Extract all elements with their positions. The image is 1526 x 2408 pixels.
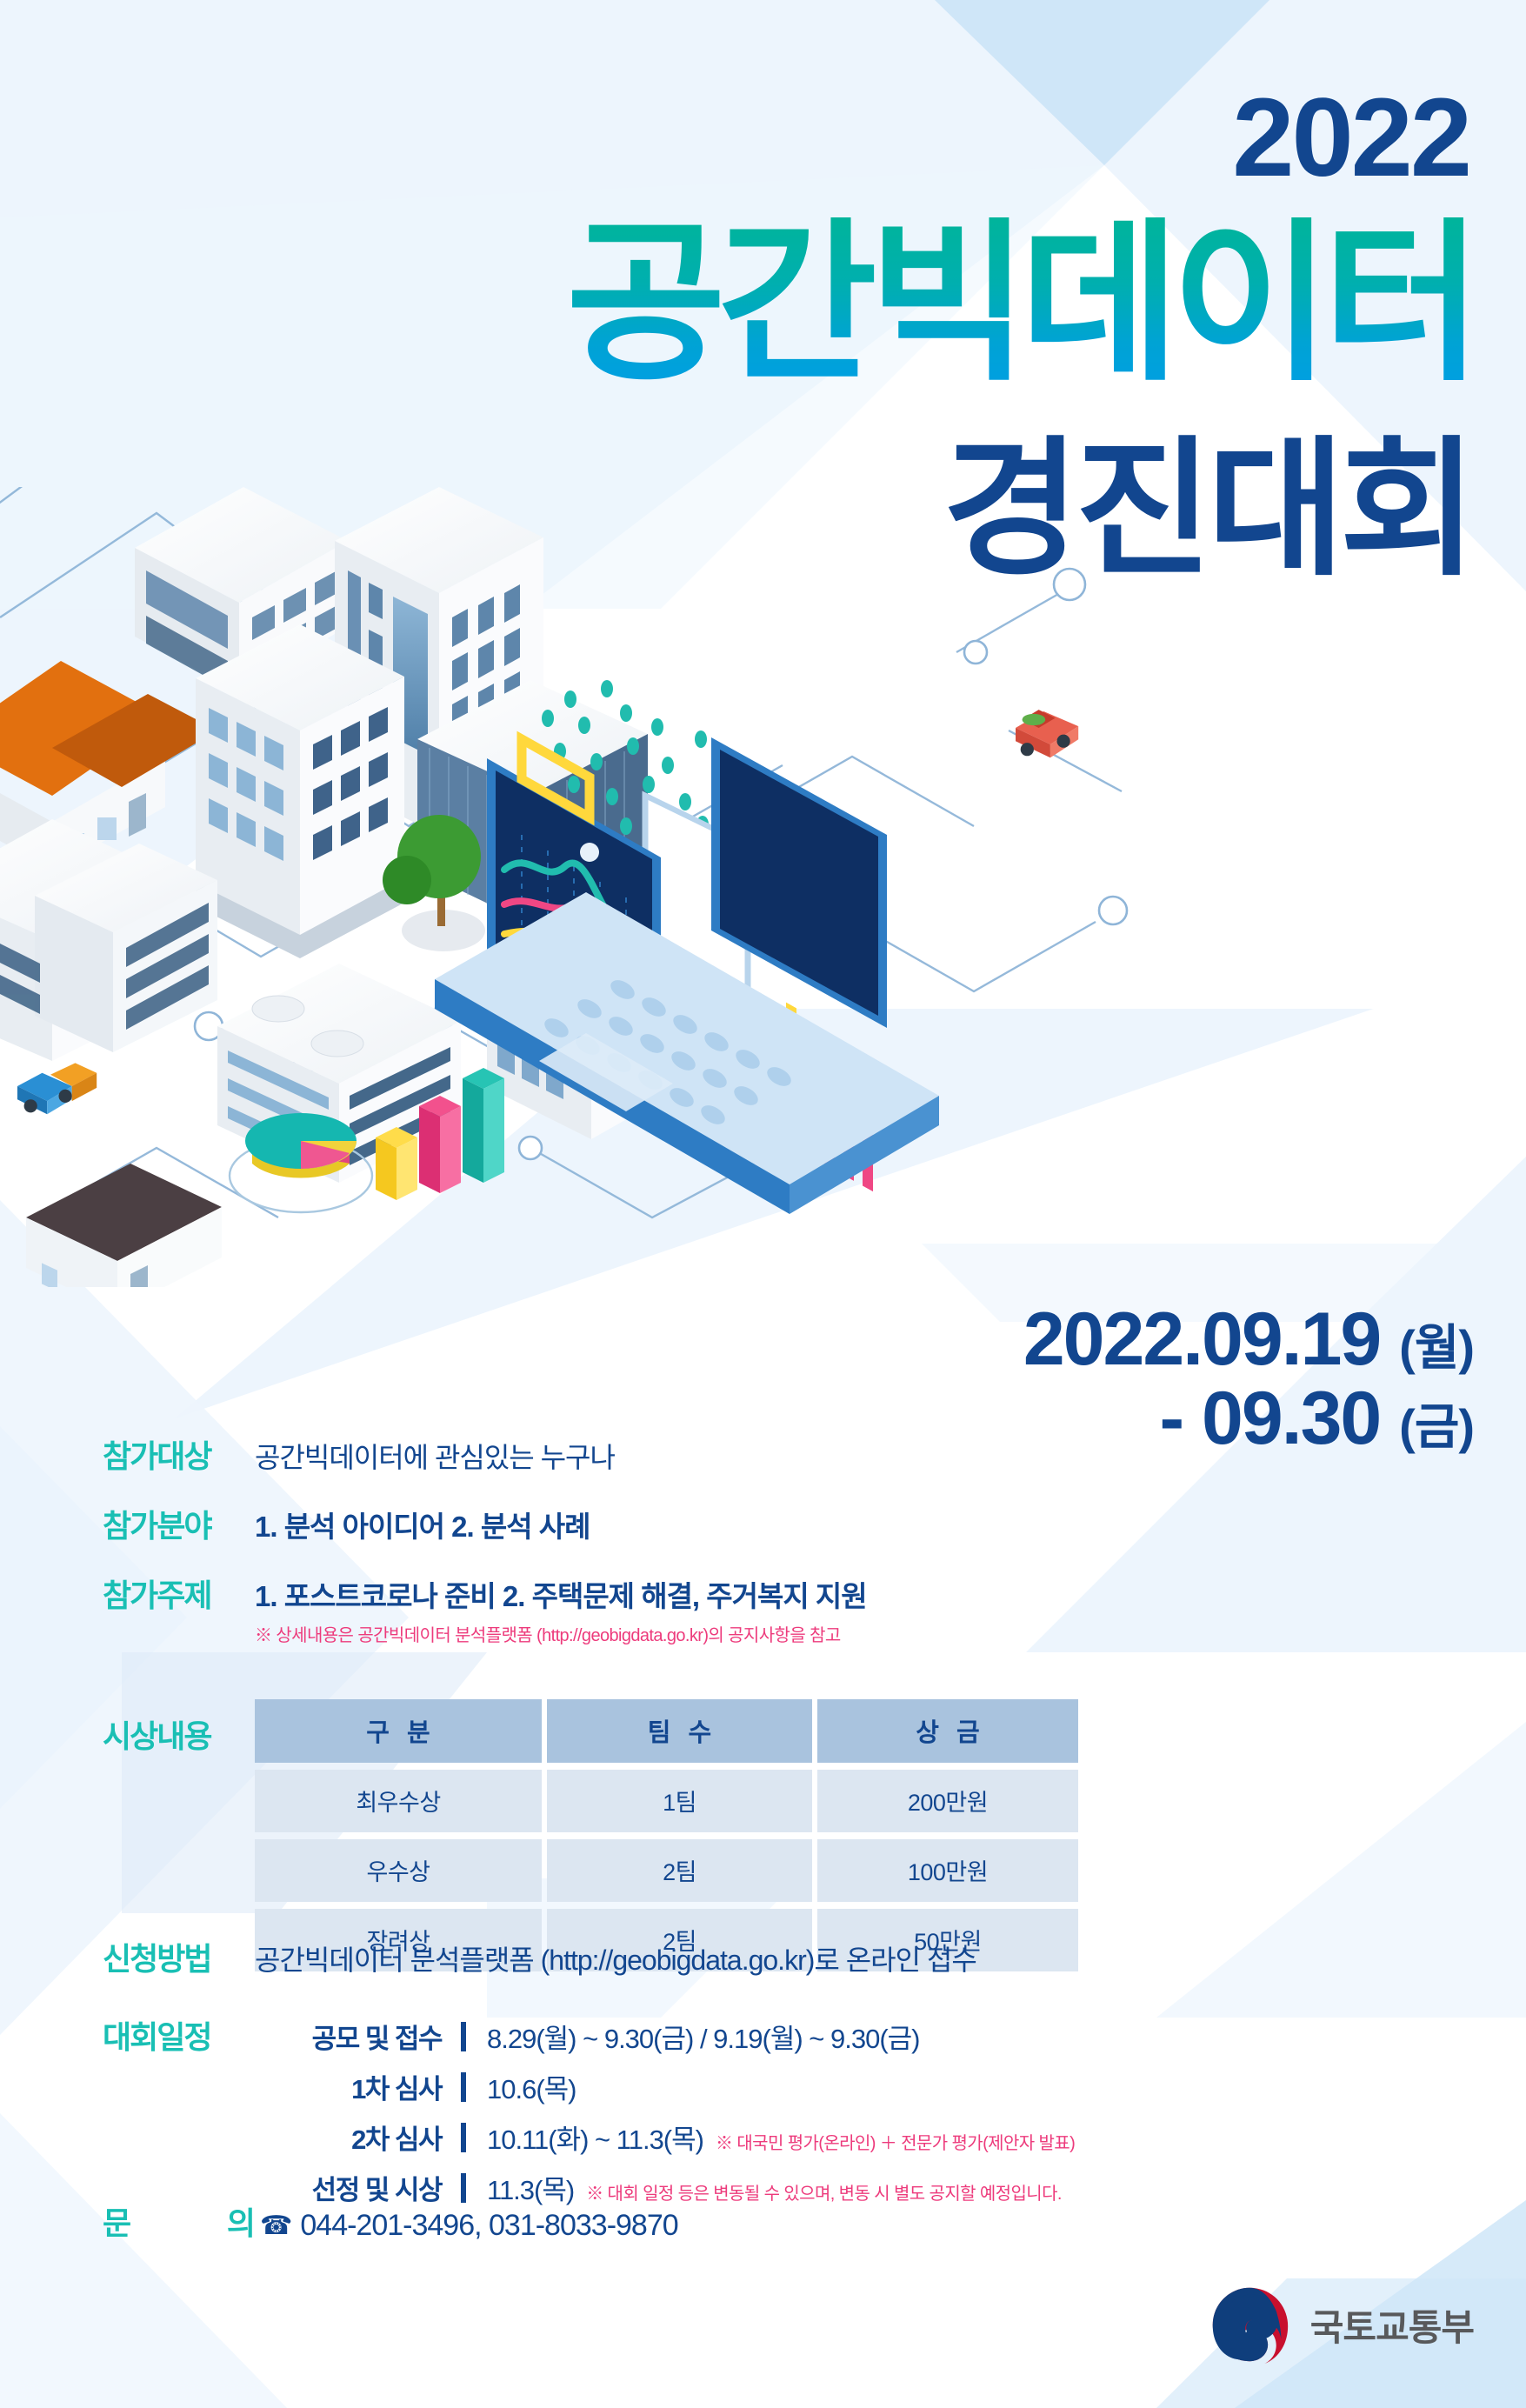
- awards-cell-prize: 200만원: [817, 1770, 1078, 1832]
- awards-header-category: 구 분: [255, 1699, 542, 1763]
- schedule-value-text: 8.29(월) ~ 9.30(금) / 9.19(월) ~ 9.30(금): [487, 2024, 920, 2054]
- event-date-end-weekday: (금): [1399, 1399, 1474, 1454]
- info-row-field: 참가분야 1. 분석 아이디어 2. 분석 사례: [103, 1501, 1250, 1546]
- ministry-name: 국토교통부: [1310, 2298, 1474, 2351]
- table-row: 최우수상 1팀 200만원: [255, 1770, 1078, 1832]
- info-label-target: 참가대상: [103, 1431, 255, 1477]
- schedule-table: 공모 및 접수 8.29(월) ~ 9.30(금) / 9.19(월) ~ 9.…: [255, 2017, 1075, 2207]
- contact-label: 문 의: [103, 2198, 260, 2244]
- info-topic-note: ※ 상세내용은 공간빅데이터 분석플랫폼 (http://geobigdata.…: [255, 1621, 1250, 1646]
- list-item: 2차 심사 10.11(화) ~ 11.3(목)※ 대국민 평가(온라인) ＋ …: [255, 2118, 1075, 2157]
- info-label-topic: 참가주제: [103, 1571, 255, 1616]
- poster-root: 2022 공간빅데이터 경진대회: [0, 0, 1526, 2408]
- contact-row: 문 의 ☎ 044-201-3496, 031-8033-9870: [103, 2198, 678, 2244]
- info-row-target: 참가대상 공간빅데이터에 관심있는 누구나: [103, 1431, 1250, 1477]
- contact-label-char-2: 의: [227, 2198, 255, 2244]
- info-label-field: 참가분야: [103, 1501, 255, 1546]
- contact-value-wrap: ☎ 044-201-3496, 031-8033-9870: [260, 2209, 678, 2243]
- event-date-start-weekday: (월): [1399, 1320, 1474, 1375]
- schedule-row: 대회일정 공모 및 접수 8.29(월) ~ 9.30(금) / 9.19(월)…: [103, 2012, 1363, 2207]
- schedule-value-text: 10.11(화) ~ 11.3(목): [487, 2125, 703, 2155]
- telephone-icon: ☎: [260, 2211, 291, 2241]
- info-row-topic: 참가주제 1. 포스트코로나 준비 2. 주택문제 해결, 주거복지 지원: [103, 1571, 1250, 1616]
- info-value-field: 1. 분석 아이디어 2. 분석 사례: [255, 1504, 590, 1545]
- awards-label: 시상내용: [103, 1692, 255, 1757]
- apply-label: 신청방법: [103, 1934, 255, 1979]
- list-item: 공모 및 접수 8.29(월) ~ 9.30(금) / 9.19(월) ~ 9.…: [255, 2017, 1075, 2056]
- event-date-start: 2022.09.19: [1023, 1297, 1380, 1381]
- contact-phone-numbers: 044-201-3496, 031-8033-9870: [300, 2209, 677, 2243]
- apply-value: 공간빅데이터 분석플랫폼 (http://geobigdata.go.kr)로 …: [255, 1938, 976, 1978]
- schedule-value: 8.29(월) ~ 9.30(금) / 9.19(월) ~ 9.30(금): [466, 2017, 932, 2056]
- event-date-start-row: 2022.09.19 (월): [1023, 1300, 1474, 1379]
- schedule-label: 대회일정: [103, 2012, 255, 2058]
- contact-label-char-1: 문: [103, 2198, 130, 2244]
- info-value-target: 공간빅데이터에 관심있는 누구나: [255, 1436, 615, 1476]
- info-value-topic: 1. 포스트코로나 준비 2. 주택문제 해결, 주거복지 지원: [255, 1573, 867, 1615]
- schedule-key: 1차 심사: [255, 2067, 461, 2106]
- schedule-value: 10.11(화) ~ 11.3(목)※ 대국민 평가(온라인) ＋ 전문가 평가…: [466, 2118, 1075, 2157]
- poster-year: 2022: [1232, 83, 1469, 194]
- footer-logo: 국토교통부: [1208, 2283, 1474, 2366]
- table-row: 우수상 2팀 100만원: [255, 1839, 1078, 1902]
- schedule-key: 2차 심사: [255, 2118, 461, 2157]
- awards-header-prize: 상 금: [817, 1699, 1078, 1763]
- schedule-value-text: 10.6(목): [487, 2074, 576, 2104]
- awards-cell-category: 우수상: [255, 1839, 542, 1902]
- awards-header-teams: 팀 수: [547, 1699, 812, 1763]
- awards-cell-prize: 100만원: [817, 1839, 1078, 1902]
- isometric-city-illustration: [0, 487, 1130, 1287]
- awards-cell-category: 최우수상: [255, 1770, 542, 1832]
- list-item: 1차 심사 10.6(목): [255, 2067, 1075, 2106]
- poster-title-main: 공간빅데이터: [566, 217, 1474, 391]
- awards-header-row: 구 분 팀 수 상 금: [255, 1699, 1078, 1763]
- korea-government-taegeuk-icon: [1208, 2283, 1291, 2366]
- schedule-value: 10.6(목): [466, 2067, 589, 2106]
- lower-section: 신청방법 공간빅데이터 분석플랫폼 (http://geobigdata.go.…: [103, 1934, 1363, 2207]
- awards-cell-teams: 1팀: [547, 1770, 812, 1832]
- apply-row: 신청방법 공간빅데이터 분석플랫폼 (http://geobigdata.go.…: [103, 1934, 1363, 1979]
- schedule-key: 공모 및 접수: [255, 2017, 461, 2056]
- info-section: 참가대상 공간빅데이터에 관심있는 누구나 참가분야 1. 분석 아이디어 2.…: [103, 1431, 1250, 1646]
- schedule-note: ※ 대국민 평가(온라인) ＋ 전문가 평가(제안자 발표): [716, 2134, 1075, 2153]
- awards-cell-teams: 2팀: [547, 1839, 812, 1902]
